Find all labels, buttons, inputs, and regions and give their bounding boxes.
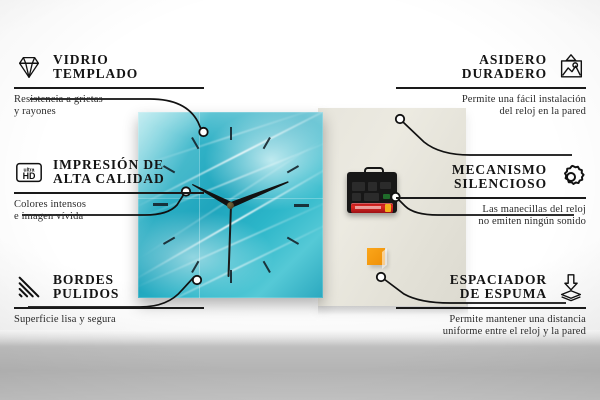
feature-divider bbox=[14, 87, 204, 89]
feature-divider bbox=[396, 87, 586, 89]
feature-subtitle-line2: no emiten ningún sonido bbox=[376, 216, 586, 229]
feature-subtitle-line2: y rayones bbox=[14, 106, 224, 119]
picture-hanger-icon bbox=[556, 52, 586, 82]
gear-icon bbox=[556, 162, 586, 192]
polished-edge-icon bbox=[14, 272, 44, 302]
ultra-hd-icon: ultra HD bbox=[14, 157, 44, 187]
feature-subtitle-line2: uniforme entre el reloj y la pared bbox=[376, 326, 586, 339]
feature-subtitle-line1: Permite una fácil instalación bbox=[376, 94, 586, 107]
svg-text:HD: HD bbox=[23, 171, 36, 181]
feature-title-line1: BORDES bbox=[53, 273, 119, 288]
feature-subtitle-line1: Las manecillas del reloj bbox=[376, 204, 586, 217]
feature-title-line2: TEMPLADO bbox=[53, 67, 138, 82]
feature-title-line1: ASIDERO bbox=[462, 53, 547, 68]
feature-vidrio-templado[interactable]: VIDRIO TEMPLADO Resistencia a grietas y … bbox=[14, 52, 224, 119]
feature-title-line2: DURADERO bbox=[462, 67, 547, 82]
foam-spacer-icon bbox=[556, 272, 586, 302]
background-floor bbox=[0, 330, 600, 400]
foam-spacer bbox=[367, 248, 385, 265]
feature-divider bbox=[396, 307, 586, 309]
feature-divider bbox=[14, 192, 204, 194]
feature-title-line2: ALTA CALIDAD bbox=[53, 172, 165, 187]
feature-asidero-duradero[interactable]: ASIDERO DURADERO Permite una fácil insta… bbox=[376, 52, 586, 119]
clock-center-cap bbox=[227, 202, 234, 209]
feature-subtitle-line1: Superficie lisa y segura bbox=[14, 314, 224, 327]
feature-subtitle-line2: e imagen vívida bbox=[14, 211, 224, 224]
feature-impresion-alta-calidad[interactable]: ultra HD IMPRESIÓN DE ALTA CALIDAD Color… bbox=[14, 157, 224, 224]
feature-divider bbox=[396, 197, 586, 199]
feature-bordes-pulidos[interactable]: BORDES PULIDOS Superficie lisa y segura bbox=[14, 272, 224, 326]
feature-subtitle-line2: del reloj en la pared bbox=[376, 106, 586, 119]
feature-subtitle-line1: Colores intensos bbox=[14, 199, 224, 212]
feature-subtitle-line1: Resistencia a grietas bbox=[14, 94, 224, 107]
feature-title-line1: VIDRIO bbox=[53, 53, 138, 68]
feature-mecanismo-silencioso[interactable]: MECANISMO SILENCIOSO Las manecillas del … bbox=[376, 162, 586, 229]
feature-title-line1: MECANISMO bbox=[452, 163, 547, 178]
feature-title-line2: PULIDOS bbox=[53, 287, 119, 302]
feature-title-line1: ESPACIADOR bbox=[450, 273, 547, 288]
feature-title-line1: IMPRESIÓN DE bbox=[53, 158, 165, 173]
diamond-icon bbox=[14, 52, 44, 82]
feature-subtitle-line1: Permite mantener una distancia bbox=[376, 314, 586, 327]
feature-title-line2: SILENCIOSO bbox=[452, 177, 547, 192]
feature-espaciador-de-espuma[interactable]: ESPACIADOR DE ESPUMA Permite mantener un… bbox=[376, 272, 586, 339]
feature-divider bbox=[14, 307, 204, 309]
infographic-stage: VIDRIO TEMPLADO Resistencia a grietas y … bbox=[0, 0, 600, 400]
feature-title-line2: DE ESPUMA bbox=[450, 287, 547, 302]
